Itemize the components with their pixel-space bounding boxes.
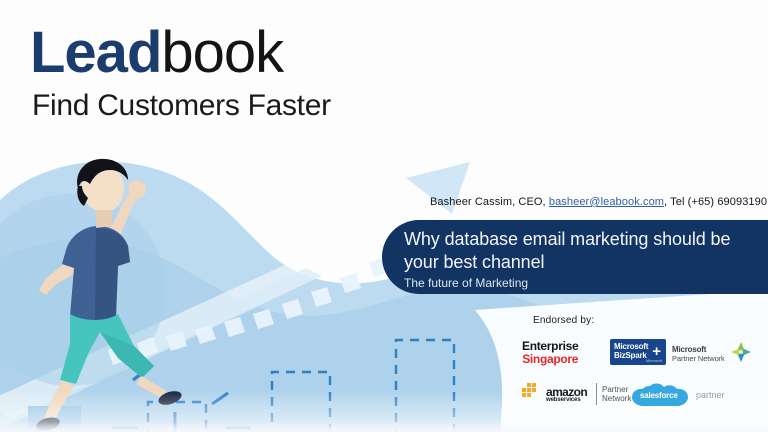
microsoft-partner-network-logo: Microsoft Partner Network <box>672 341 762 365</box>
microsoft-bizspark-logo: Microsoft BizSpark + Microsoft <box>610 339 666 365</box>
contact-phone: , Tel (+65) 69093190 <box>664 196 767 208</box>
endorsements-block: Endorsed by: Enterprise Singapore Micros… <box>500 310 768 425</box>
aws-subtext: webservices <box>546 397 581 404</box>
bizspark-line2: BizSpark <box>614 351 648 360</box>
endorsement-logo-row-1: Enterprise Singapore Microsoft BizSpark … <box>500 338 768 372</box>
brand-logo-block: Leadbook Find Customers Faster <box>30 22 450 124</box>
aws-boxes-icon <box>522 383 544 408</box>
endorsed-by-label: Endorsed by: <box>533 315 594 326</box>
aws-partner-network-logo: amazon webservices Partner Network <box>522 382 630 408</box>
salesforce-partner-logo: salesforce partner <box>630 380 740 408</box>
brand-wordmark: Leadbook <box>30 22 450 84</box>
talk-title-panel: Why database email marketing should be y… <box>382 220 768 294</box>
bizspark-line1: Microsoft <box>614 342 648 351</box>
bizspark-text: Microsoft BizSpark <box>614 342 648 360</box>
mpn-text: Microsoft Partner Network <box>672 345 725 363</box>
mpn-line1: Microsoft <box>672 345 725 354</box>
slide-canvas: Leadbook Find Customers Faster Basheer C… <box>0 0 768 432</box>
talk-subtitle: The future of Marketing <box>404 276 758 291</box>
brand-wordmark-strong: Lead <box>30 20 161 85</box>
presenter-contact-line: Basheer Cassim, CEO, basheer@leabook.com… <box>430 196 767 208</box>
runner-neck <box>96 210 112 228</box>
salesforce-wordmark: salesforce <box>640 391 678 400</box>
contact-email-link[interactable]: basheer@leabook.com <box>549 196 664 208</box>
salesforce-partner-text: partner <box>696 390 725 400</box>
contact-name-role: Basheer Cassim, CEO, <box>430 196 549 208</box>
bizspark-microsoft-subtext: Microsoft <box>646 358 662 363</box>
slide-bottom-fade <box>0 422 768 432</box>
brand-tagline: Find Customers Faster <box>32 88 450 124</box>
aws-partner-line2: Network <box>602 394 631 403</box>
aws-partner-line1: Partner <box>602 385 631 394</box>
brand-wordmark-light: book <box>161 20 283 85</box>
aws-divider <box>596 383 597 405</box>
bizspark-plus-icon: + <box>652 344 661 359</box>
mpn-pinwheel-icon <box>730 341 752 368</box>
endorsement-logo-row-2: amazon webservices Partner Network sales… <box>500 380 768 412</box>
aws-partner-text: Partner Network <box>602 385 631 403</box>
enterprise-singapore-line2: Singapore <box>522 353 578 366</box>
enterprise-singapore-logo: Enterprise Singapore <box>522 340 578 366</box>
mpn-line2: Partner Network <box>672 354 725 363</box>
talk-title: Why database email marketing should be y… <box>404 228 758 274</box>
